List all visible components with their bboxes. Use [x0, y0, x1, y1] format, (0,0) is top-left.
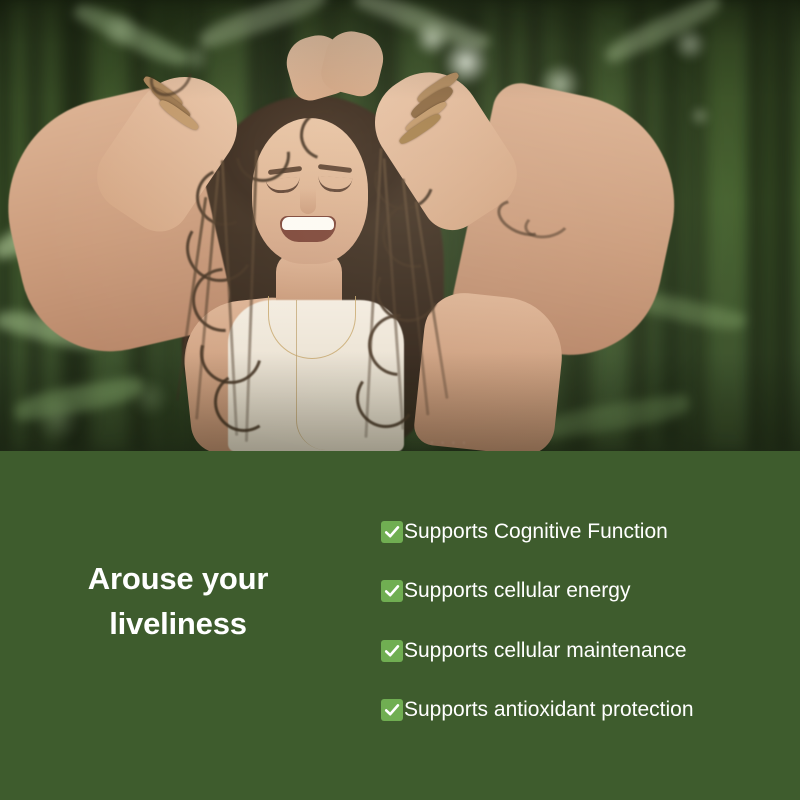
check-mark-button-icon [381, 699, 403, 721]
benefits-panel: Arouse your liveliness Supports Cognitiv… [0, 451, 800, 800]
benefit-label: Supports cellular energy [404, 579, 630, 603]
benefit-label: Supports cellular maintenance [404, 639, 687, 663]
benefit-item: Supports cellular maintenance [381, 621, 781, 681]
check-mark-button-icon [381, 521, 403, 543]
benefit-item: Supports Cognitive Function [381, 502, 781, 562]
teeth [282, 217, 334, 230]
benefit-label: Supports antioxidant protection [404, 698, 694, 722]
promo-card: · · · · Arouse your liveliness Supports … [0, 0, 800, 800]
benefit-item: Supports cellular energy [381, 562, 781, 622]
necklace-pendant-chain [296, 300, 331, 450]
headline-line-1: Arouse your [28, 556, 328, 601]
smiling-mouth [280, 216, 336, 242]
check-mark-button-icon [381, 580, 403, 602]
woman-figure [0, 0, 800, 451]
headline: Arouse your liveliness [28, 556, 328, 646]
benefit-item: Supports antioxidant protection [381, 681, 781, 741]
check-mark-button-icon [381, 640, 403, 662]
benefits-list: Supports Cognitive Function Supports cel… [381, 502, 781, 740]
hero-photo: · · · · [0, 0, 800, 451]
headline-line-2: liveliness [28, 601, 328, 646]
nose [300, 188, 316, 214]
benefit-label: Supports Cognitive Function [404, 520, 668, 544]
